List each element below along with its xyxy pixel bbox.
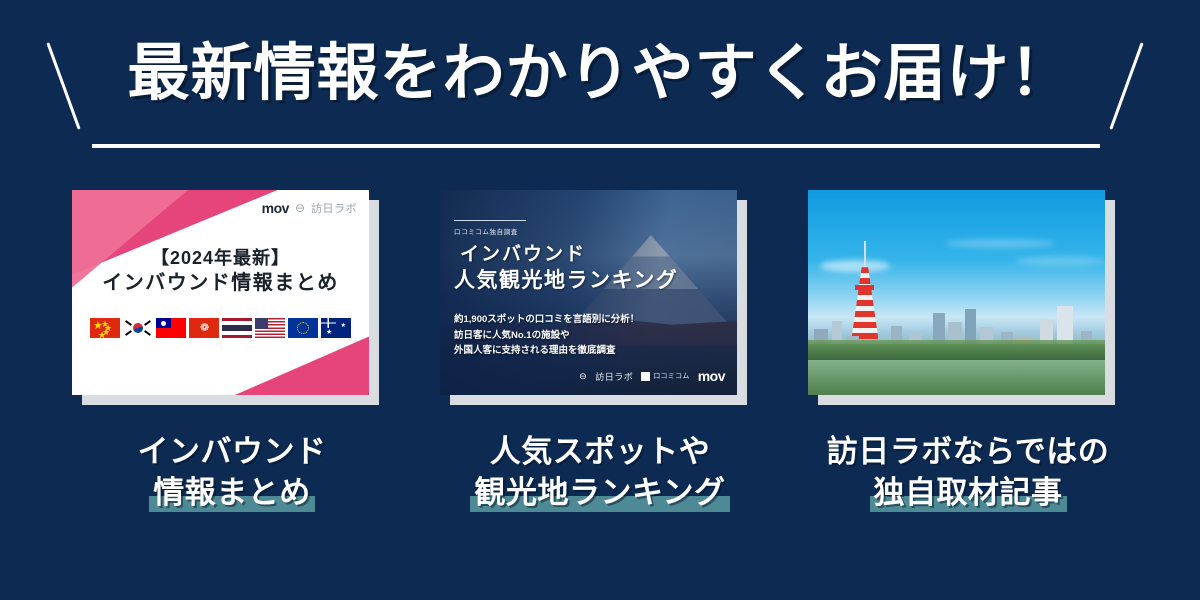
slide-body-line1: 約1,900スポットの口コミを言語別に分析！ (454, 312, 639, 328)
flag-thailand-icon (222, 318, 252, 338)
slide-body-2: 約1,900スポットの口コミを言語別に分析！ 訪日客に人気No.1の施設や 外国… (454, 312, 639, 359)
caption-row: インバウンド 情報まとめ 人気スポットや 観光地ランキング 訪日ラボならではの … (0, 432, 1200, 542)
flag-european-union-icon (288, 318, 318, 338)
cloud-icon (820, 260, 890, 272)
caption-column-3: 訪日ラボならではの 独自取材記事 (808, 432, 1128, 542)
slide-body-line3: 外国人客に支持される理由を徹底調査 (454, 343, 639, 359)
pink-corner-bottom-right (212, 333, 369, 395)
flag-taiwan-icon (156, 318, 186, 338)
headline-divider (92, 144, 1100, 148)
slide-title-2: インバウンド 人気観光地ランキング (454, 242, 678, 295)
slide-logo-row: mov ⊖ 訪日ラボ (262, 200, 357, 216)
flag-strip: ★ ★ ★ ★ ★ (72, 318, 369, 338)
mov-logo: mov (698, 368, 725, 384)
slide-popular-ranking: 口コミコム独自調査 インバウンド 人気観光地ランキング 約1,900スポットの口… (440, 190, 737, 395)
mov-logo: mov (262, 200, 289, 216)
card-thumbnail-2[interactable]: 口コミコム独自調査 インバウンド 人気観光地ランキング 約1,900スポットの口… (440, 190, 747, 405)
logo-separator-icon: ⊖ (295, 201, 305, 215)
caption-line2: 観光地ランキング (474, 475, 725, 510)
card-caption-3: 訪日ラボならではの 独自取材記事 (808, 432, 1128, 514)
logo-separator-icon: ⊖ (579, 371, 587, 382)
card-column-2: 口コミコム独自調査 インバウンド 人気観光地ランキング 約1,900スポットの口… (440, 190, 760, 420)
thumbnail-image-2: 口コミコム独自調査 インバウンド 人気観光地ランキング 約1,900スポットの口… (440, 190, 737, 395)
cloud-icon (1016, 256, 1105, 266)
slide-tokyo-tower-photo (808, 190, 1105, 395)
card-column-1: mov ⊖ 訪日ラボ 【2024年最新】 インバウンド情報まとめ ★ ★ ★ (72, 190, 392, 420)
caption-line2-highlight: 観光地ランキング (474, 473, 725, 514)
flag-hong-kong-icon: ❁ (189, 318, 219, 338)
card-thumbnail-row: mov ⊖ 訪日ラボ 【2024年最新】 インバウンド情報まとめ ★ ★ ★ (0, 190, 1200, 420)
caption-column-2: 人気スポットや 観光地ランキング (440, 432, 760, 542)
slide-kicker-block: 口コミコム独自調査 (454, 220, 526, 236)
slide-body-line2: 訪日客に人気No.1の施設や (454, 328, 639, 344)
slide-title-line2: インバウンド情報まとめ (72, 270, 369, 297)
slide-title-line2: 人気観光地ランキング (454, 267, 678, 295)
thumbnail-image-1: mov ⊖ 訪日ラボ 【2024年最新】 インバウンド情報まとめ ★ ★ ★ (72, 190, 369, 395)
kicker-rule (454, 220, 526, 221)
hounichi-labo-logo: 訪日ラボ (595, 370, 633, 383)
caption-line2-highlight: 情報まとめ (153, 473, 311, 514)
caption-column-1: インバウンド 情報まとめ (72, 432, 392, 542)
card-column-3 (808, 190, 1128, 420)
page-title: 最新情報をわかりやすくお届け！ (0, 38, 1200, 109)
caption-line1: 訪日ラボならではの (808, 432, 1128, 473)
slide-title-line1: 【2024年最新】 (72, 246, 369, 270)
slide-title-line1: インバウンド (454, 242, 678, 267)
banner-header: 最新情報をわかりやすくお届け！ (0, 0, 1200, 170)
slide-inbound-summary: mov ⊖ 訪日ラボ 【2024年最新】 インバウンド情報まとめ ★ ★ ★ (72, 190, 369, 395)
flag-south-korea-icon (123, 318, 153, 338)
slide-logo-row-2: ⊖ 訪日ラボ 口コミコム mov (579, 368, 725, 384)
kuchikomicom-label: 口コミコム (653, 371, 690, 381)
card-thumbnail-3[interactable] (808, 190, 1115, 405)
hounichi-labo-logo: 訪日ラボ (311, 200, 357, 216)
slide-kicker: 口コミコム独自調査 (454, 226, 526, 236)
caption-line2: 独自取材記事 (874, 475, 1063, 510)
thumbnail-image-3 (808, 190, 1105, 395)
kuchikomicom-logo: 口コミコム (641, 371, 690, 381)
city-skyline (808, 278, 1105, 360)
flag-united-states-icon (255, 318, 285, 338)
card-caption-1: インバウンド 情報まとめ (72, 432, 392, 514)
card-thumbnail-1[interactable]: mov ⊖ 訪日ラボ 【2024年最新】 インバウンド情報まとめ ★ ★ ★ (72, 190, 379, 405)
caption-line1: インバウンド (72, 432, 392, 473)
card-caption-2: 人気スポットや 観光地ランキング (440, 432, 760, 514)
caption-line1: 人気スポットや (440, 432, 760, 473)
flag-china-icon: ★ ★ ★ ★ ★ (90, 318, 120, 338)
kuchikomicom-mark-icon (641, 372, 650, 381)
caption-line2: 情報まとめ (153, 475, 311, 510)
caption-line2-highlight: 独自取材記事 (874, 473, 1063, 514)
flag-australia-icon: ★★ (321, 318, 351, 338)
slide-title-1: 【2024年最新】 インバウンド情報まとめ (72, 246, 369, 297)
